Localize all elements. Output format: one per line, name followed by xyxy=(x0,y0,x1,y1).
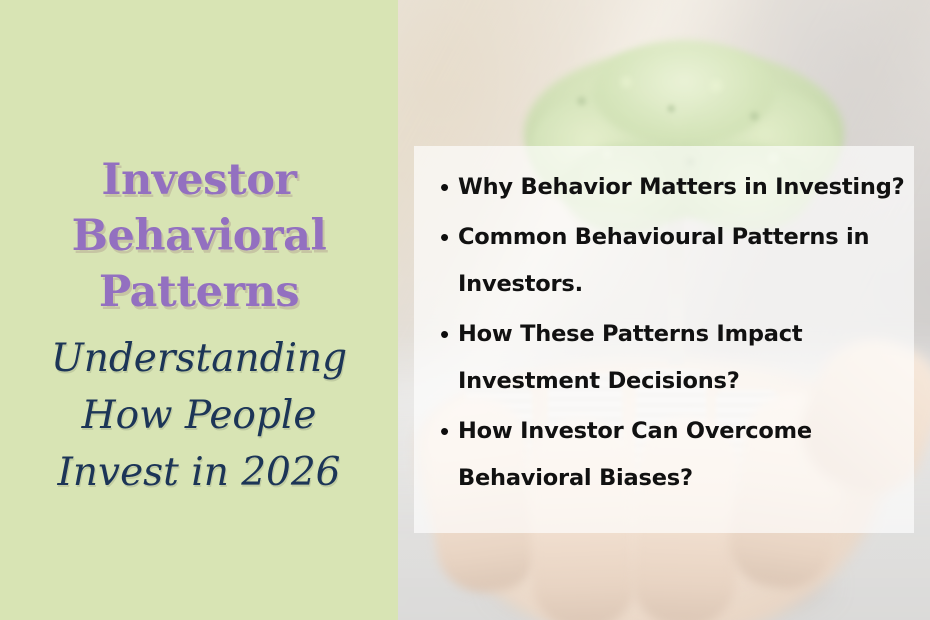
subtitle-line-1: Understanding xyxy=(0,330,398,387)
bullet-label: How Investor Can Overcome Behavioral Bia… xyxy=(458,408,910,502)
subtitle-line-3: Invest in 2026 xyxy=(0,444,398,501)
list-item: • How Investor Can Overcome Behavioral B… xyxy=(440,408,910,502)
page-title: Investor Behavioral Patterns xyxy=(0,152,398,320)
title-line-1: Investor xyxy=(0,152,398,208)
list-item: • Why Behavior Matters in Investing? xyxy=(440,164,910,211)
bullet-label: Why Behavior Matters in Investing? xyxy=(458,164,910,211)
title-line-2: Behavioral xyxy=(0,208,398,264)
bullet-marker-icon: • xyxy=(440,214,458,261)
bullet-marker-icon: • xyxy=(440,311,458,358)
list-item: • How These Patterns Impact Investment D… xyxy=(440,311,910,405)
bullet-label: Common Behavioural Patterns in Investors… xyxy=(458,214,910,308)
title-panel: Investor Behavioral Patterns Understandi… xyxy=(0,0,398,620)
subtitle-line-2: How People xyxy=(0,387,398,444)
title-text: Investor Behavioral Patterns xyxy=(0,152,398,320)
page-subtitle: Understanding How People Invest in 2026 xyxy=(0,330,398,501)
list-item: • Common Behavioural Patterns in Investo… xyxy=(440,214,910,308)
subtitle-text: Understanding How People Invest in 2026 xyxy=(0,330,398,501)
bullet-marker-icon: • xyxy=(440,408,458,455)
bullet-marker-icon: • xyxy=(440,164,458,211)
bullet-list: • Why Behavior Matters in Investing? • C… xyxy=(440,164,910,505)
content-panel: • Why Behavior Matters in Investing? • C… xyxy=(414,146,914,533)
bullet-label: How These Patterns Impact Investment Dec… xyxy=(458,311,910,405)
slide-canvas: • Why Behavior Matters in Investing? • C… xyxy=(0,0,930,620)
title-line-3: Patterns xyxy=(0,264,398,320)
